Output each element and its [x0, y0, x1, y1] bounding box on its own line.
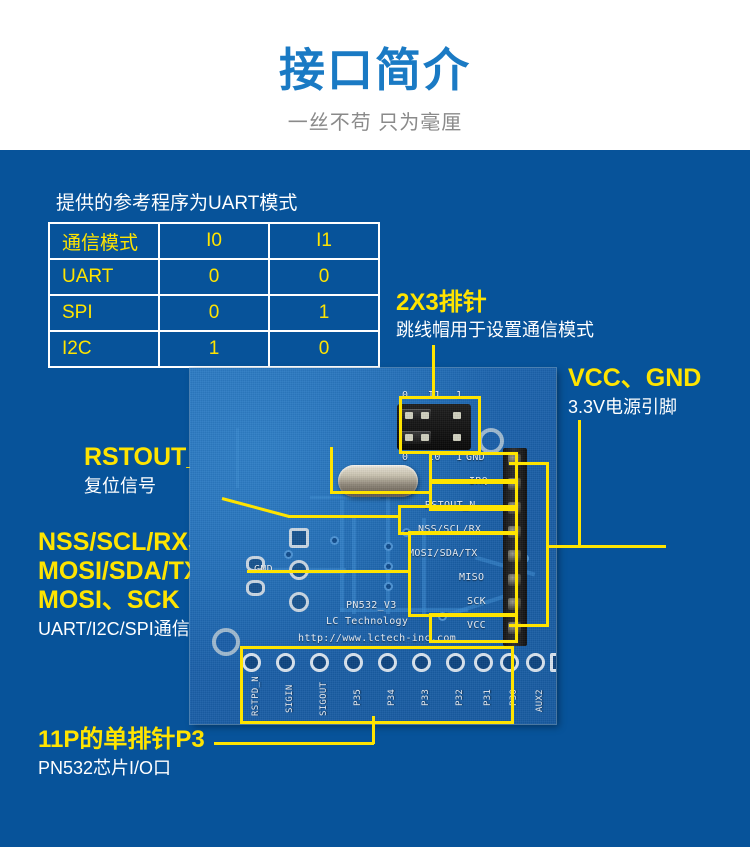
- row-i2c-i1: 0: [269, 331, 379, 367]
- page-subtitle: 一丝不苟 只为毫厘: [0, 106, 750, 135]
- leader-jumper: [432, 345, 435, 399]
- mode-note: 提供的参考程序为UART模式: [56, 188, 297, 215]
- callout-power-title: VCC、GND: [568, 366, 701, 391]
- leader-irq-vertical: [330, 447, 333, 493]
- mount-hole: [212, 628, 240, 656]
- row-i2c-i0: 1: [159, 331, 269, 367]
- leader-power-top: [509, 462, 549, 465]
- callout-jumper-sub: 跳线帽用于设置通信模式: [396, 319, 594, 341]
- communication-mode-table: 通信模式 I0 I1 UART 0 0 SPI 0 1 I2C 1 0: [48, 222, 380, 368]
- row-uart-i1: 0: [269, 259, 379, 295]
- row-mode-i2c: I2C: [49, 331, 159, 367]
- row-spi-i0: 0: [159, 295, 269, 331]
- solder-pad-square: [289, 528, 309, 548]
- silk-p3-aux2: AUX2: [535, 689, 545, 712]
- p3-hole-aux2[interactable]: [526, 653, 545, 672]
- row-uart-i0: 0: [159, 259, 269, 295]
- highlight-comm-pin-group: [408, 531, 518, 617]
- leader-irq-horizontal: [330, 491, 431, 494]
- leader-comm-horizontal: [247, 570, 410, 573]
- leader-power-riser: [578, 420, 581, 548]
- leader-power-bottom: [509, 624, 549, 627]
- highlight-p3-row: [240, 646, 514, 724]
- table-header-i1: I1: [269, 223, 379, 259]
- callout-comm-title-line3: MOSI、SCK: [38, 588, 180, 613]
- callout-p3-sub: PN532芯片I/O口: [38, 757, 171, 779]
- pcb-via: [332, 538, 337, 543]
- p3-hole-aux1[interactable]: [550, 653, 556, 672]
- callout-rstout-sub: 复位信号: [84, 475, 156, 497]
- pcb-trace: [236, 428, 239, 488]
- page-title: 接口简介: [0, 44, 750, 96]
- row-spi-i1: 1: [269, 295, 379, 331]
- table-row: SPI 0 1: [49, 295, 379, 331]
- table-row: I2C 1 0: [49, 331, 379, 367]
- pcb-trace: [386, 494, 390, 614]
- leader-power-stub: [546, 545, 666, 548]
- silk-model: PN532_V3: [346, 600, 397, 611]
- table-header-row: 通信模式 I0 I1: [49, 223, 379, 259]
- row-mode-spi: SPI: [49, 295, 159, 331]
- pcb-via: [286, 552, 291, 557]
- callout-jumper-title: 2X3排针: [396, 290, 487, 315]
- callout-comm-title-line1: NSS/SCL/RX、: [38, 530, 213, 555]
- mount-hole: [478, 428, 504, 454]
- highlight-jumper: [399, 396, 481, 454]
- highlight-pin-vcc: [429, 613, 518, 643]
- pcb-via: [386, 584, 391, 589]
- solder-pad: [289, 592, 309, 612]
- row-mode-uart: UART: [49, 259, 159, 295]
- table-header-mode: 通信模式: [49, 223, 159, 259]
- callout-p3-title: 11P的单排针P3: [38, 727, 205, 752]
- solder-pad: [246, 580, 265, 596]
- highlight-pin-gnd: [429, 452, 518, 482]
- leader-rstout-horizontal: [288, 515, 400, 518]
- silk-brand: LC Technology: [326, 616, 408, 627]
- infographic-page: 接口简介 一丝不苟 只为毫厘 提供的参考程序为UART模式 通信模式 I0 I1…: [0, 0, 750, 847]
- page-header: 接口简介 一丝不苟 只为毫厘: [0, 0, 750, 150]
- table-header-i0: I0: [159, 223, 269, 259]
- table-row: UART 0 0: [49, 259, 379, 295]
- leader-p3-vertical: [372, 716, 375, 744]
- pcb-via: [386, 564, 391, 569]
- pcb-via: [386, 544, 391, 549]
- leader-p3-horizontal: [214, 742, 374, 745]
- callout-power-sub: 3.3V电源引脚: [568, 396, 677, 418]
